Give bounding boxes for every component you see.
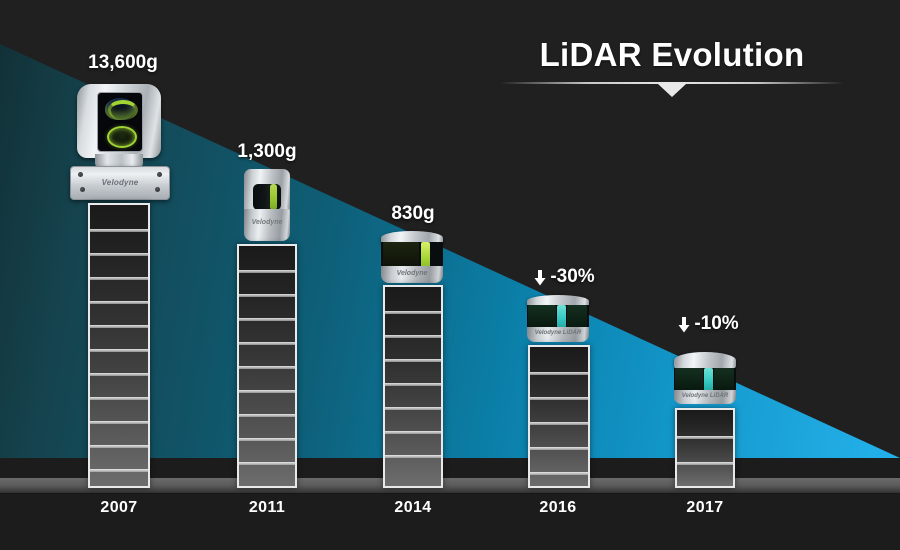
lens-teal-segment	[704, 368, 713, 392]
screw-icon	[155, 187, 160, 192]
arrow-down-icon	[677, 317, 691, 333]
brand-label-2017: Velodyne LiDAR	[674, 393, 736, 399]
screw-icon	[78, 172, 83, 177]
lidar-lens-band	[674, 368, 736, 392]
device-2007: Velodyne	[77, 84, 175, 202]
value-text-2017: -10%	[694, 313, 738, 335]
device-2011: Velodyne	[244, 169, 290, 244]
value-label-2014: 830g	[378, 203, 448, 225]
brand-label-2007: Velodyne	[71, 178, 169, 187]
lidar-lens-window	[253, 184, 281, 210]
screw-icon	[157, 172, 162, 177]
value-label-2016: -30%	[524, 266, 604, 288]
value-text-2014: 830g	[391, 203, 434, 225]
brand-label-2014: Velodyne	[381, 270, 443, 277]
lens-dark-segment	[528, 305, 556, 329]
value-label-2007: 13,600g	[88, 52, 158, 74]
bar-2014	[383, 285, 443, 488]
brand-label-2016: Velodyne LiDAR	[527, 330, 589, 336]
lens-dark-segment	[567, 305, 587, 329]
year-label-2011: 2011	[207, 499, 327, 517]
brand-label-2011: Velodyne	[244, 219, 290, 226]
title-divider	[502, 82, 842, 84]
lidar-window	[97, 92, 143, 152]
year-label-2014: 2014	[353, 499, 473, 517]
device-2017: Velodyne LiDAR	[674, 352, 736, 404]
arrow-down-icon	[533, 270, 547, 286]
lidar-head-icon	[77, 84, 161, 158]
device-2014: Velodyne	[381, 231, 443, 285]
lens-teal-segment	[557, 305, 566, 329]
bar-2007	[88, 203, 150, 488]
page-title: LiDAR Evolution	[502, 38, 842, 73]
caret-down-icon	[658, 84, 686, 97]
year-label-2007: 2007	[59, 499, 179, 517]
lidar-upper-shell	[244, 169, 290, 211]
bar-2017	[675, 408, 735, 488]
lidar-foot: Velodyne LiDAR	[674, 390, 736, 404]
bar-2011	[237, 244, 297, 488]
lidar-lower-shell: Velodyne	[244, 209, 290, 241]
value-label-2017: -10%	[668, 313, 748, 335]
year-label-2017: 2017	[645, 499, 765, 517]
lidar-laser-array-lower	[107, 126, 137, 148]
lens-dark-segment	[675, 368, 703, 392]
lidar-lens-band	[381, 242, 443, 268]
lens-green-segment	[421, 242, 430, 268]
screw-icon	[80, 187, 85, 192]
value-text-2011: 1,300g	[237, 141, 296, 163]
device-2016: Velodyne LiDAR	[527, 295, 589, 343]
year-label-2016: 2016	[498, 499, 618, 517]
value-text-2007: 13,600g	[88, 52, 158, 74]
title-block: LiDAR Evolution	[502, 38, 842, 84]
infographic-canvas: LiDAR Evolution 13,600g Velodyne	[0, 0, 900, 550]
lidar-laser-array-upper	[105, 98, 135, 120]
value-label-2011: 1,300g	[232, 141, 302, 163]
lens-dark-segment	[714, 368, 734, 392]
lens-dark-segment	[383, 242, 419, 268]
lidar-foot: Velodyne LiDAR	[527, 327, 589, 342]
lidar-foot: Velodyne	[381, 266, 443, 283]
lidar-base: Velodyne	[70, 166, 170, 200]
lidar-lens-band	[527, 305, 589, 329]
bar-2016	[528, 345, 590, 488]
value-text-2016: -30%	[550, 266, 594, 288]
